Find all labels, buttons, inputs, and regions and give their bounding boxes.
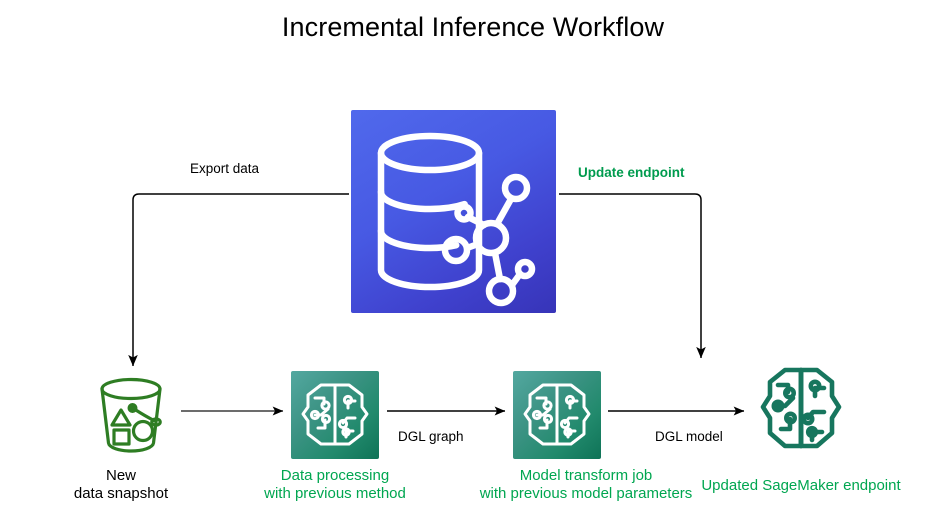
s3-bucket-glyph — [88, 373, 174, 455]
sagemaker-brain-glyph — [513, 371, 601, 459]
edge-label-export-data: Export data — [190, 161, 259, 176]
edge-label-dgl-graph: DGL graph — [398, 429, 464, 444]
connector-update-endpoint — [559, 194, 701, 358]
edge-label-update-endpoint: Update endpoint — [578, 165, 685, 180]
connector-export-data — [133, 194, 349, 366]
graph-database-icon — [351, 110, 556, 313]
s3-bucket-icon — [88, 373, 174, 455]
sagemaker-brain-icon-model-transform — [513, 371, 601, 459]
label-data-processing: Data processing with previous method — [234, 467, 436, 503]
diagram-canvas: Incremental Inference Workflow — [0, 0, 946, 528]
sagemaker-brain-glyph — [291, 371, 379, 459]
graph-database-glyph — [351, 110, 556, 313]
label-updated-sagemaker-endpoint: Updated SageMaker endpoint — [686, 477, 916, 495]
sagemaker-brain-outline-glyph — [752, 362, 850, 454]
label-new-data-snapshot: New data snapshot — [41, 467, 201, 503]
edge-label-dgl-model: DGL model — [655, 429, 723, 444]
sagemaker-brain-icon-data-processing — [291, 371, 379, 459]
sagemaker-brain-outline-icon — [752, 362, 850, 454]
